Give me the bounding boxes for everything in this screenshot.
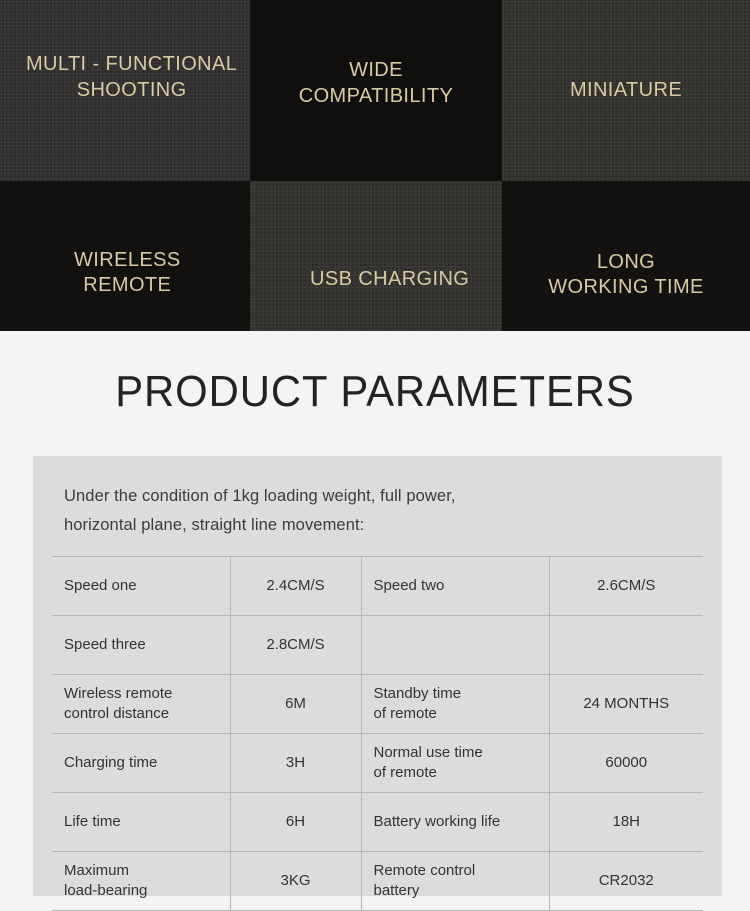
spec-value: CR2032 — [549, 851, 703, 910]
spec-key: Normal use time of remote — [361, 733, 549, 792]
spec-key: Speed two — [361, 556, 549, 615]
spec-key: Standby time of remote — [361, 674, 549, 733]
table-row: Speed three 2.8CM/S — [52, 615, 703, 674]
spec-value: 24 MONTHS — [549, 674, 703, 733]
table-row: Speed one 2.4CM/S Speed two 2.6CM/S — [52, 556, 703, 615]
feature-label: WIRELESS REMOTE — [74, 248, 181, 299]
spec-value — [549, 615, 703, 674]
spec-intro-text: Under the condition of 1kg loading weigh… — [33, 456, 722, 540]
spec-key: Charging time — [52, 733, 230, 792]
spec-value: 3H — [230, 733, 361, 792]
spec-value: 18H — [549, 792, 703, 851]
page-title: PRODUCT PARAMETERS — [19, 331, 732, 417]
spec-table-body: Speed one 2.4CM/S Speed two 2.6CM/S Spee… — [52, 556, 703, 910]
spec-key: Maximum load-bearing — [52, 851, 230, 910]
spec-key: Wireless remote control distance — [52, 674, 230, 733]
feature-label: USB CHARGING — [310, 267, 469, 293]
spec-key — [361, 615, 549, 674]
spec-table: Speed one 2.4CM/S Speed two 2.6CM/S Spee… — [52, 556, 703, 911]
table-row: Wireless remote control distance 6M Stan… — [52, 674, 703, 733]
feature-cell-wide-compatibility: WIDE COMPATIBILITY — [250, 0, 502, 181]
spec-key: Life time — [52, 792, 230, 851]
feature-cell-miniature: MINIATURE — [502, 0, 750, 181]
spec-value: 60000 — [549, 733, 703, 792]
feature-cell-long-working-time: LONG WORKING TIME — [502, 181, 750, 331]
spec-value: 2.6CM/S — [549, 556, 703, 615]
spec-value: 2.4CM/S — [230, 556, 361, 615]
spec-value: 3KG — [230, 851, 361, 910]
table-row: Charging time 3H Normal use time of remo… — [52, 733, 703, 792]
spec-key: Speed one — [52, 556, 230, 615]
spec-key: Battery working life — [361, 792, 549, 851]
spec-value: 6H — [230, 792, 361, 851]
spec-key: Speed three — [52, 615, 230, 674]
feature-cell-usb-charging: USB CHARGING — [250, 181, 502, 331]
feature-label: LONG WORKING TIME — [548, 250, 704, 301]
spec-key: Remote control battery — [361, 851, 549, 910]
feature-grid: MULTI - FUNCTIONAL SHOOTING WIDE COMPATI… — [0, 0, 750, 331]
spec-value: 2.8CM/S — [230, 615, 361, 674]
spec-panel: Under the condition of 1kg loading weigh… — [33, 456, 722, 896]
feature-cell-wireless-remote: WIRELESS REMOTE — [0, 181, 250, 331]
table-row: Maximum load-bearing 3KG Remote control … — [52, 851, 703, 910]
table-row: Life time 6H Battery working life 18H — [52, 792, 703, 851]
feature-label: WIDE COMPATIBILITY — [299, 58, 453, 109]
spec-value: 6M — [230, 674, 361, 733]
feature-label: MULTI - FUNCTIONAL SHOOTING — [26, 52, 237, 103]
feature-label: MINIATURE — [570, 78, 682, 104]
feature-cell-multi-functional-shooting: MULTI - FUNCTIONAL SHOOTING — [0, 0, 250, 181]
